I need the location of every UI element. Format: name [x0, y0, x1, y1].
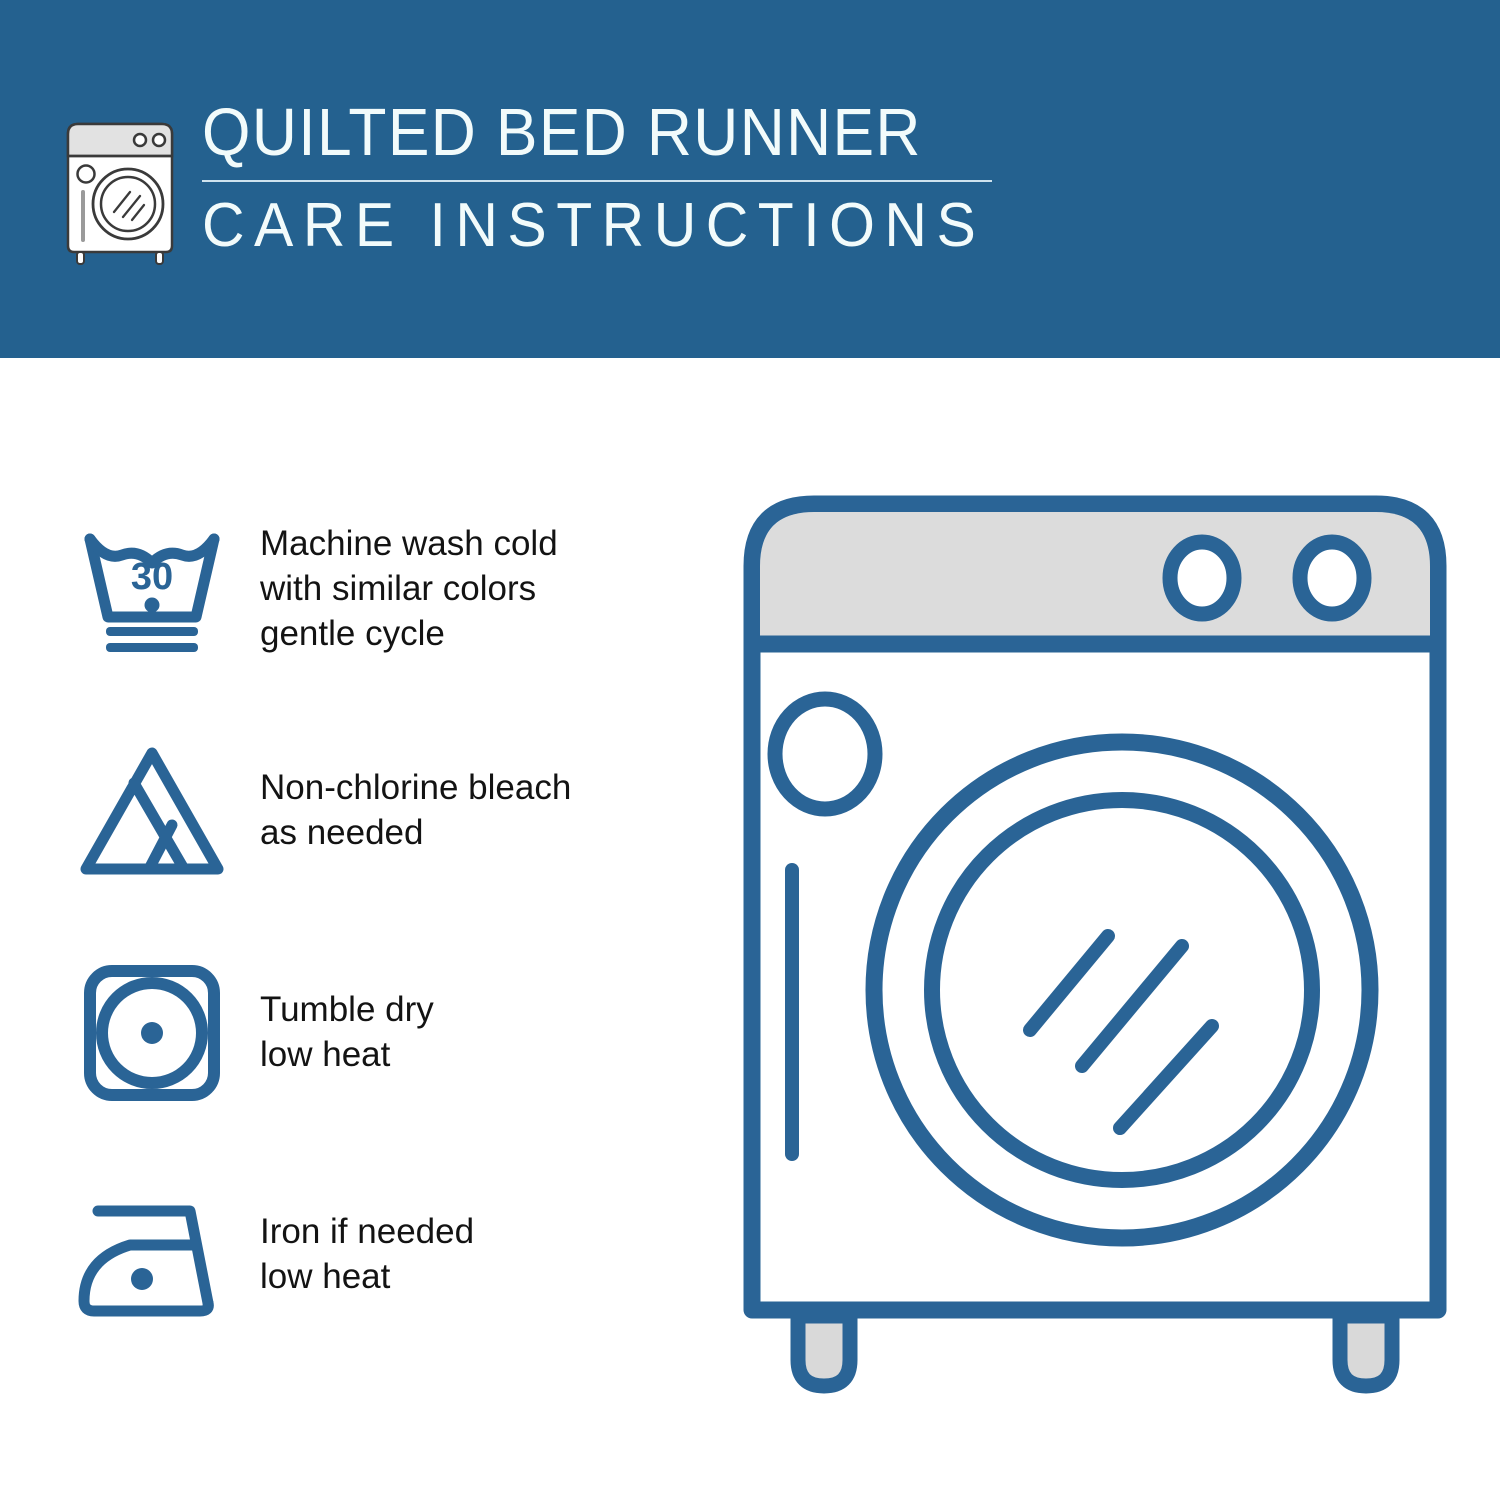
washer-indicator-light	[775, 699, 875, 809]
iron-low-heat-icon	[72, 1179, 232, 1329]
header-content: QUILTED BED RUNNER CARE INSTRUCTIONS	[60, 96, 1026, 269]
page-title: QUILTED BED RUNNER	[202, 96, 969, 170]
page-subtitle: CARE INSTRUCTIONS	[202, 193, 985, 259]
care-label-iron: Iron if needed low heat	[260, 1209, 474, 1299]
care-row-machine-wash: 30 Machine wash cold with similar colors…	[72, 508, 662, 668]
tumble-dry-low-icon	[72, 957, 232, 1107]
care-row-bleach: Non-chlorine bleach as needed	[72, 730, 662, 890]
washer-foot-right	[1340, 1316, 1392, 1386]
header-title-block: QUILTED BED RUNNER CARE INSTRUCTIONS	[202, 96, 1026, 259]
care-row-tumble-dry: Tumble dry low heat	[72, 952, 662, 1112]
washer-knob-left[interactable]	[1170, 542, 1234, 614]
washer-knob-right[interactable]	[1300, 542, 1364, 614]
washer-foot-left	[798, 1316, 850, 1386]
care-label-tumble-dry: Tumble dry low heat	[260, 987, 434, 1077]
main-content: 30 Machine wash cold with similar colors…	[0, 358, 1500, 1500]
care-label-machine-wash: Machine wash cold with similar colors ge…	[260, 521, 558, 656]
wash-temperature-value: 30	[131, 556, 173, 598]
title-divider	[202, 180, 992, 182]
non-chlorine-bleach-triangle-icon	[72, 735, 232, 885]
front-load-washing-machine-illustration	[730, 478, 1460, 1428]
washing-machine-icon	[60, 104, 180, 269]
care-label-bleach: Non-chlorine bleach as needed	[260, 765, 571, 855]
care-row-iron: Iron if needed low heat	[72, 1174, 662, 1334]
wash-tub-30-icon: 30	[72, 513, 232, 663]
care-instruction-list: 30 Machine wash cold with similar colors…	[72, 508, 662, 1334]
header-banner: QUILTED BED RUNNER CARE INSTRUCTIONS	[0, 0, 1500, 358]
